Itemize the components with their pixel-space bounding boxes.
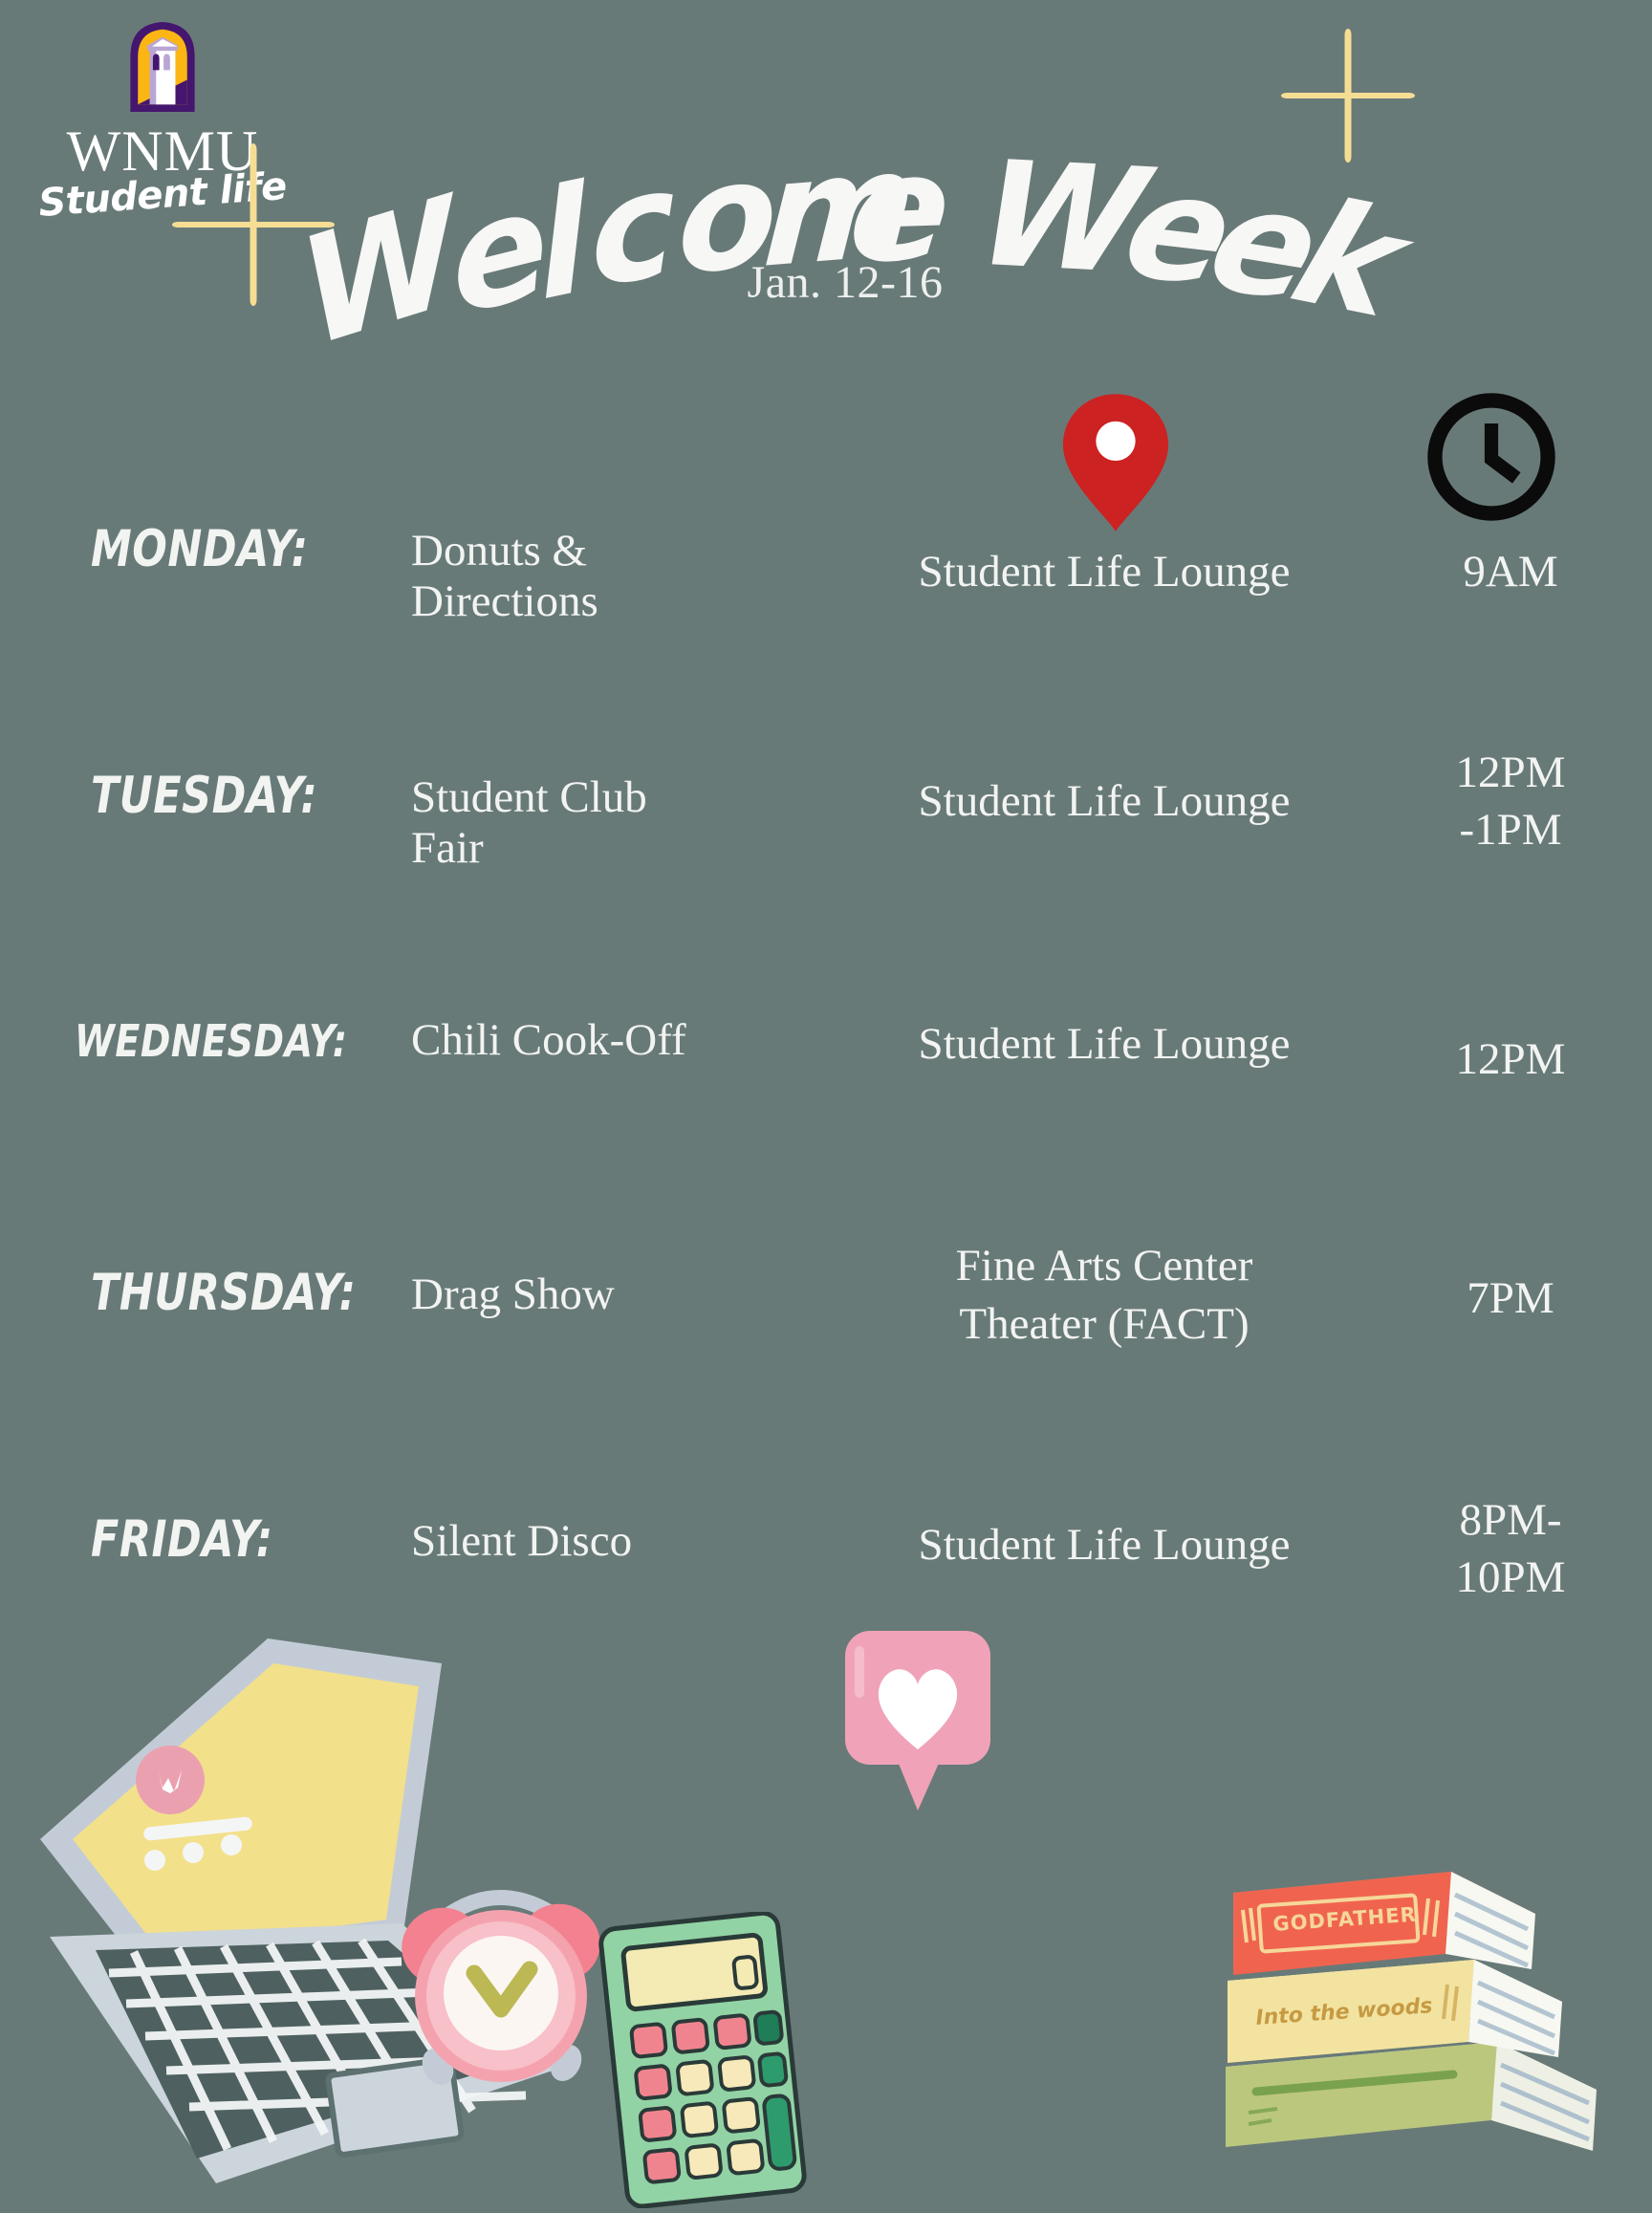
schedule-event-location: Student Life Lounge	[899, 1516, 1310, 1574]
calculator-illustration	[589, 1912, 828, 2213]
schedule-event-time: 12PM	[1401, 1031, 1620, 1088]
table-row: TUESDAY: Student Club Fair Student Life …	[0, 744, 1652, 990]
schedule-event-time: 9AM	[1401, 543, 1620, 600]
schedule-event-location: Student Life Lounge	[899, 1015, 1310, 1074]
table-row: THURSDAY: Drag Show Fine Arts Center The…	[0, 1237, 1652, 1484]
schedule-event-location: Student Life Lounge	[899, 772, 1310, 831]
event-date-range: Jan. 12-16	[38, 256, 1652, 309]
schedule-event-name: Student Club Fair	[411, 772, 717, 873]
schedule-event-time: 12PM -1PM	[1401, 744, 1620, 858]
schedule-event-location: Fine Arts Center Theater (FACT)	[899, 1237, 1310, 1354]
bottom-illustrations: Into the woods GODFATHER	[0, 1625, 1652, 2202]
heart-bubble-illustration	[830, 1623, 1021, 1819]
schedule-event-name: Chili Cook-Off	[411, 1015, 717, 1066]
sparkle-icon-right	[1281, 29, 1415, 163]
schedule-day-label: FRIDAY:	[91, 1515, 378, 1565]
schedule-event-name: Donuts & Directions	[411, 526, 717, 626]
book-stack-illustration: Into the woods GODFATHER	[1214, 1816, 1616, 2175]
schedule-day-label: TUESDAY:	[91, 771, 378, 821]
poster-header: Welcome Week Jan. 12-16	[0, 0, 1652, 287]
table-row: WEDNESDAY: Chili Cook-Off Student Life L…	[0, 990, 1652, 1237]
poster-canvas: WNMU Student life Welcome Week Jan. 12-1…	[0, 0, 1652, 2202]
schedule-day-label: THURSDAY:	[91, 1269, 378, 1318]
schedule-day-label: MONDAY:	[91, 525, 378, 575]
schedule-event-name: Drag Show	[411, 1269, 717, 1320]
schedule-event-name: Silent Disco	[411, 1516, 717, 1567]
schedule-event-location: Student Life Lounge	[899, 543, 1310, 601]
schedule-day-label: WEDNESDAY:	[75, 1019, 390, 1063]
schedule-table: MONDAY: Donuts & Directions Student Life…	[0, 497, 1652, 1730]
schedule-event-time: 7PM	[1401, 1269, 1620, 1327]
page-title: Welcome Week	[315, 17, 1329, 237]
schedule-event-time: 8PM- 10PM	[1401, 1491, 1620, 1606]
alarm-clock-illustration	[382, 1855, 621, 2108]
table-row: MONDAY: Donuts & Directions Student Life…	[0, 497, 1652, 744]
